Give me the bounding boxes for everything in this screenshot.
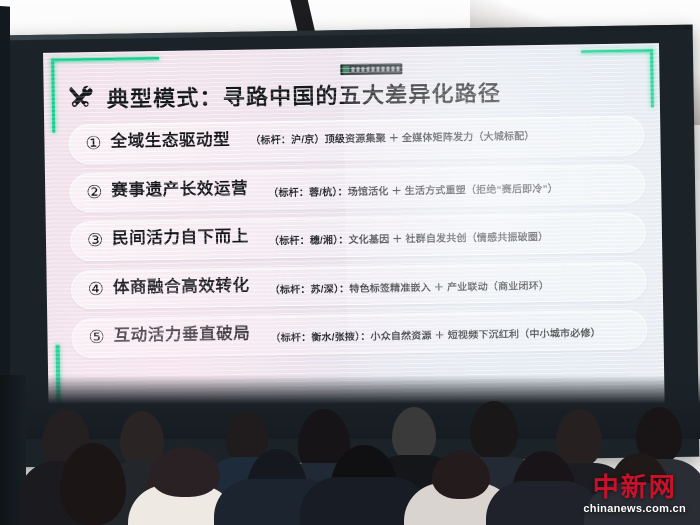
item-detail: （标杆：沪/京）顶级资源集聚 ＋ 全媒体矩阵发力（大城标配） <box>250 130 535 147</box>
slide-title-row: 典型模式：寻路中国的五大差异化路径 <box>66 76 502 115</box>
audience-head <box>392 407 436 461</box>
list-item: ③ 民间活力自下而上 （标杆：穗/湘）：文化基因 ＋ 社群自发共创（情感共振破圈… <box>70 212 647 261</box>
item-detail: （标杆：衡水/张掖）：小众自然资源 ＋ 短视频下沉红利（中小城市必修） <box>270 327 601 345</box>
item-number: ② <box>86 180 102 203</box>
item-number: ③ <box>87 229 103 252</box>
watermark-logo-cn: 中新网 <box>583 475 686 501</box>
item-number: ⑤ <box>88 326 104 349</box>
badge-label-placeholder <box>351 66 400 72</box>
item-headline: 体商融合高效转化 <box>113 275 250 298</box>
item-headline: 民间活力自下而上 <box>112 227 249 250</box>
item-number: ④ <box>88 277 104 300</box>
item-headline: 互动活力垂直破局 <box>113 324 250 347</box>
slide-title: 典型模式：寻路中国的五大差异化路径 <box>107 76 502 114</box>
audience-head <box>60 443 126 525</box>
item-number: ① <box>85 132 101 155</box>
item-detail: （标杆：苏/深）：特色标签精准嵌入 ＋ 产业联动（商业闭环） <box>270 279 550 296</box>
bezel-left-edge <box>0 5 10 436</box>
list-item: ② 赛事遗产长效运营 （标杆：蓉/杭）：场馆活化 ＋ 生活方式重塑（拒绝“赛后即… <box>69 164 646 213</box>
item-headline: 赛事遗产长效运营 <box>111 178 248 201</box>
item-headline: 全域生态驱动型 <box>110 130 230 153</box>
crossed-tools-icon <box>66 83 96 113</box>
slide-corner-badge <box>340 63 402 75</box>
list-item: ⑤ 互动活力垂直破局 （标杆：衡水/张掖）：小众自然资源 ＋ 短视频下沉红利（中… <box>71 309 648 358</box>
watermark: 中新网 chinanews.com.cn <box>583 475 686 515</box>
slide-item-list: ① 全域生态驱动型 （标杆：沪/京）顶级资源集聚 ＋ 全媒体矩阵发力（大城标配）… <box>68 115 648 367</box>
item-detail: （标杆：蓉/杭）：场馆活化 ＋ 生活方式重塑（拒绝“赛后即冷”） <box>268 182 558 200</box>
audience-head <box>432 451 490 499</box>
audience-head <box>470 401 518 459</box>
badge-indicator-icon <box>342 66 349 73</box>
item-detail: （标杆：穗/湘）：文化基因 ＋ 社群自发共创（情感共振破圈） <box>269 231 549 248</box>
watermark-logo-en: chinanews.com.cn <box>583 503 686 515</box>
list-item: ① 全域生态驱动型 （标杆：沪/京）顶级资源集聚 ＋ 全媒体矩阵发力（大城标配） <box>68 115 645 164</box>
screenshot-stage: 典型模式：寻路中国的五大差异化路径 ① 全域生态驱动型 （标杆：沪/京）顶级资源… <box>0 0 700 525</box>
audience-head <box>150 447 220 497</box>
list-item: ④ 体商融合高效转化 （标杆：苏/深）：特色标签精准嵌入 ＋ 产业联动（商业闭环… <box>70 261 647 310</box>
